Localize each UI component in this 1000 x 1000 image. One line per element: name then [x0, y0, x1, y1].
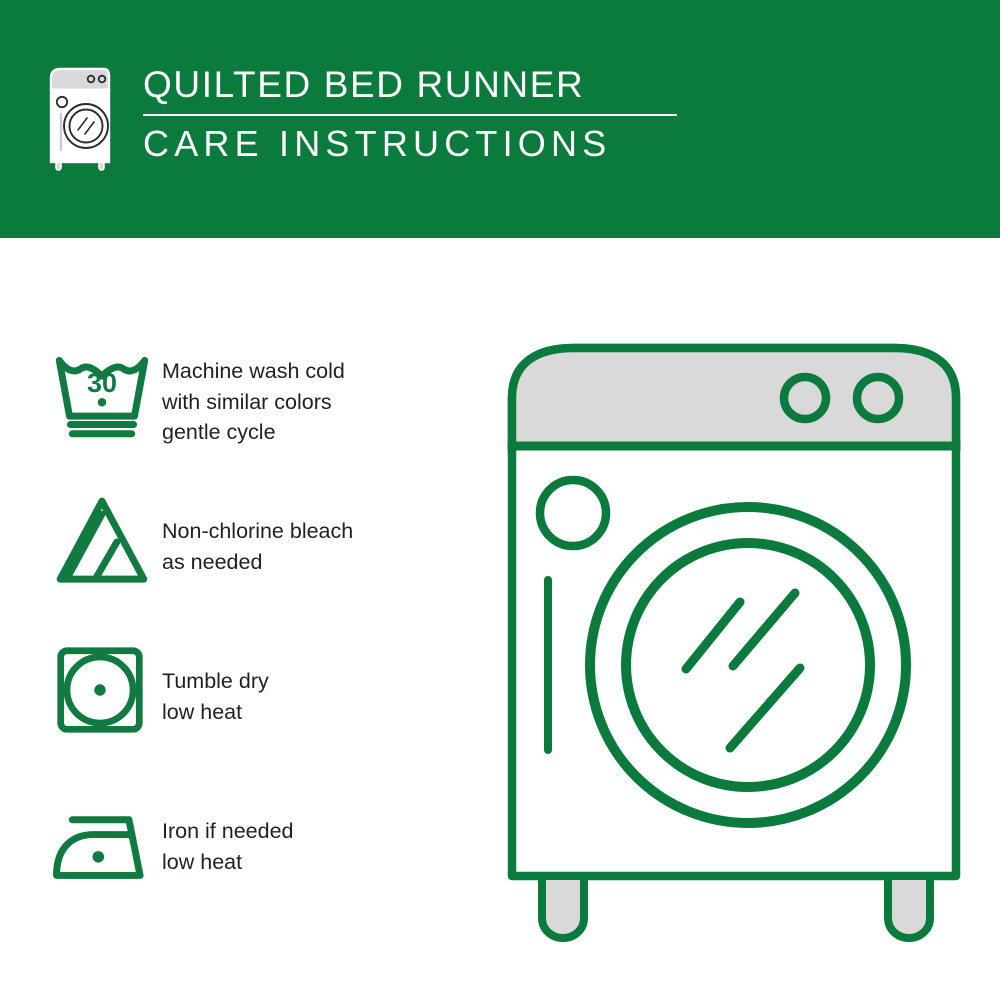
front-load-washing-machine-illustration	[490, 330, 990, 950]
leg-left	[542, 876, 584, 938]
care-label-iron: Iron if needed low heat	[162, 790, 450, 877]
care-instructions-page: QUILTED BED RUNNER CARE INSTRUCTIONS 30	[0, 0, 1000, 1000]
care-label-wash: Machine wash cold with similar colors ge…	[162, 340, 450, 448]
care-instruction-list: 30 Machine wash cold with similar colors…	[50, 340, 450, 940]
header-content: QUILTED BED RUNNER CARE INSTRUCTIONS	[45, 64, 677, 176]
leg-right	[888, 876, 930, 938]
care-row-iron: Iron if needed low heat	[50, 790, 450, 940]
care-label-bleach: Non-chlorine bleach as needed	[162, 490, 450, 577]
care-row-bleach: Non-chlorine bleach as needed	[50, 490, 450, 640]
header-banner: QUILTED BED RUNNER CARE INSTRUCTIONS	[0, 0, 1000, 238]
tumble-dry-symbol	[50, 640, 162, 740]
bleach-triangle-symbol	[50, 490, 162, 594]
page-subtitle: CARE INSTRUCTIONS	[143, 126, 677, 162]
title-divider	[143, 114, 677, 116]
header-titles: QUILTED BED RUNNER CARE INSTRUCTIONS	[143, 64, 677, 162]
care-row-tumble-dry: Tumble dry low heat	[50, 640, 450, 790]
iron-symbol	[50, 790, 162, 894]
washing-machine-icon	[45, 64, 117, 176]
control-panel	[512, 348, 956, 446]
wash-tub-symbol: 30	[50, 340, 162, 444]
care-label-tumble-dry: Tumble dry low heat	[162, 640, 450, 727]
page-title: QUILTED BED RUNNER	[143, 66, 677, 103]
care-row-wash: 30 Machine wash cold with similar colors…	[50, 340, 450, 490]
wash-temperature-value: 30	[87, 368, 117, 398]
